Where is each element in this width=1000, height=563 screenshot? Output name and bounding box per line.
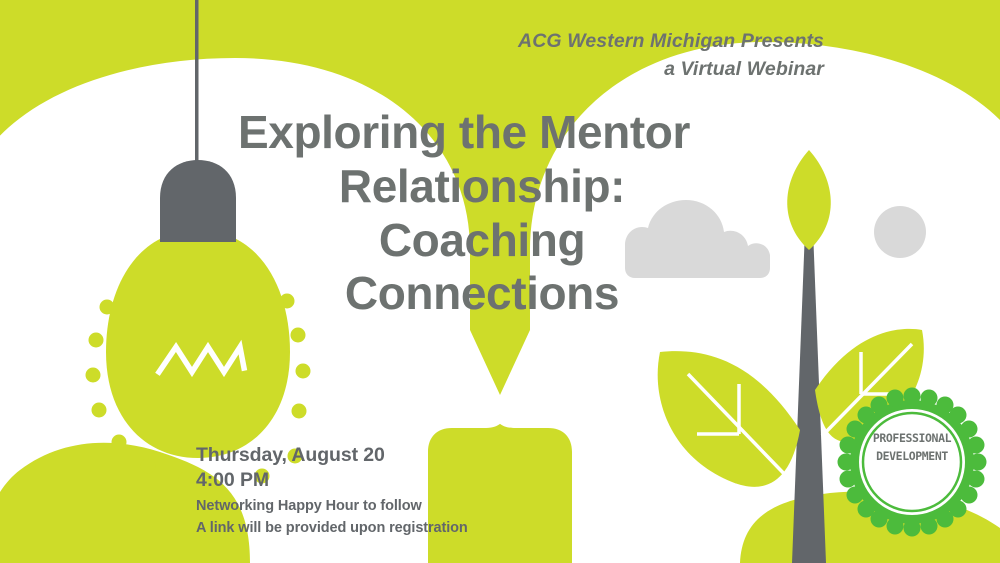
lightbulb-cap — [160, 160, 236, 242]
title-line-2: Relationship: — [232, 160, 732, 214]
presenter-eyebrow: ACG Western Michigan Presents a Virtual … — [518, 28, 824, 83]
presenter-line-1: ACG Western Michigan Presents — [518, 30, 824, 52]
event-note-2: A link will be provided upon registratio… — [196, 518, 468, 538]
seal-label-line-2: DEVELOPMENT — [848, 448, 976, 466]
title-line-1: Exploring the Mentor — [238, 106, 732, 160]
event-date: Thursday, August 20 — [196, 443, 468, 468]
event-note-1: Networking Happy Hour to follow — [196, 496, 468, 516]
sun-circle-icon — [874, 206, 926, 258]
event-time: 4:00 PM — [196, 468, 468, 493]
lightbulb-cord — [195, 0, 199, 175]
title-line-3: Coaching — [232, 214, 732, 268]
event-details: Thursday, August 20 4:00 PM Networking H… — [196, 443, 468, 538]
title-line-4: Connections — [232, 267, 732, 321]
page-title: Exploring the Mentor Relationship: Coach… — [232, 106, 732, 321]
flyer-canvas: ACG Western Michigan Presents a Virtual … — [0, 0, 1000, 563]
seal-label: PROFESSIONAL DEVELOPMENT — [848, 430, 976, 466]
seal-label-line-1: PROFESSIONAL — [848, 430, 976, 448]
presenter-line-2: a Virtual Webinar — [518, 56, 824, 84]
